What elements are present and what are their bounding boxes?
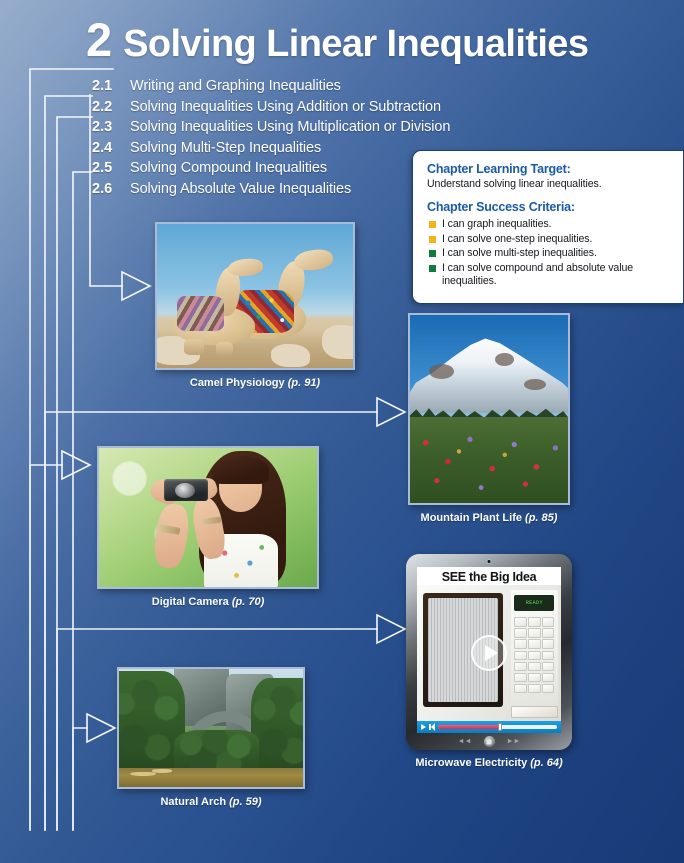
- arrowhead-arch: [87, 714, 115, 742]
- connector-camera: [30, 465, 62, 830]
- tablet-right-glyph-icon: ►►: [507, 738, 521, 745]
- page-title: 2 Solving Linear Inequalities: [86, 12, 588, 67]
- video-progress-knob[interactable]: [498, 723, 502, 731]
- section-number: 2.5: [92, 160, 130, 176]
- section-label: Solving Compound Inequalities: [130, 160, 327, 176]
- success-criteria-list: I can graph inequalities. I can solve on…: [427, 218, 669, 289]
- caption-page: (p. 91): [288, 377, 320, 389]
- section-number: 2.2: [92, 99, 130, 115]
- criterion-text: I can solve multi-step inequalities.: [442, 247, 669, 261]
- caption-page: (p. 70): [232, 596, 264, 608]
- learning-target-heading: Chapter Learning Target:: [427, 162, 669, 176]
- learning-target-text: Understand solving linear inequalities.: [427, 178, 669, 190]
- arrowhead-microwave: [377, 615, 405, 643]
- tablet-device[interactable]: SEE the Big Idea READY: [406, 554, 572, 750]
- photo-frame-camera: [97, 446, 319, 589]
- section-number: 2.4: [92, 140, 130, 156]
- video-play-icon[interactable]: [421, 724, 426, 730]
- caption-page: (p. 85): [525, 512, 557, 524]
- chapter-title: Solving Linear Inequalities: [123, 23, 588, 66]
- caption-title: Digital Camera: [152, 596, 229, 608]
- photo-caption-camera: Digital Camera (p. 70): [97, 596, 319, 608]
- chapter-learning-target-box: Chapter Learning Target: Understand solv…: [412, 150, 684, 304]
- camera-photo: [99, 448, 317, 587]
- criterion-text: I can solve compound and absolute value …: [442, 262, 669, 289]
- photo-card-arch[interactable]: Natural Arch (p. 59): [117, 667, 305, 808]
- chapter-number: 2: [86, 12, 111, 67]
- section-label: Solving Absolute Value Inequalities: [130, 181, 351, 197]
- photo-card-camera[interactable]: Digital Camera (p. 70): [97, 446, 319, 608]
- caption-title: Camel Physiology: [190, 377, 285, 389]
- photo-frame-arch: [117, 667, 305, 789]
- section-label: Writing and Graphing Inequalities: [130, 78, 341, 94]
- caption-page: (p. 59): [229, 796, 261, 808]
- caption-page: (p. 64): [530, 757, 562, 769]
- play-icon: [485, 645, 498, 661]
- section-item-2-3[interactable]: 2.3 Solving Inequalities Using Multiplic…: [92, 119, 492, 140]
- tablet-camera-icon: [488, 560, 491, 563]
- photo-caption-mountain: Mountain Plant Life (p. 85): [408, 512, 570, 524]
- criterion-item: I can graph inequalities.: [427, 218, 669, 232]
- microwave-display-text: READY: [526, 600, 543, 606]
- section-number: 2.1: [92, 78, 130, 94]
- section-item-2-2[interactable]: 2.2 Solving Inequalities Using Addition …: [92, 99, 492, 120]
- mountain-photo: [410, 315, 568, 503]
- criterion-bullet-icon: [429, 221, 436, 228]
- section-number: 2.3: [92, 119, 130, 135]
- video-player-controls[interactable]: [417, 721, 561, 733]
- connector-arch: [73, 728, 87, 830]
- criterion-bullet-icon: [429, 250, 436, 257]
- photo-frame-mountain: [408, 313, 570, 505]
- photo-card-microwave-video[interactable]: SEE the Big Idea READY: [406, 554, 572, 769]
- camel-photo: [157, 224, 353, 368]
- section-label: Solving Inequalities Using Multiplicatio…: [130, 119, 450, 135]
- section-number: 2.6: [92, 181, 130, 197]
- criterion-bullet-icon: [429, 236, 436, 243]
- photo-caption-microwave: Microwave Electricity (p. 64): [406, 757, 572, 769]
- photo-card-mountain[interactable]: Mountain Plant Life (p. 85): [408, 313, 570, 524]
- arch-photo: [119, 669, 303, 787]
- criterion-text: I can graph inequalities.: [442, 218, 669, 232]
- arrowhead-mountain: [377, 398, 405, 426]
- caption-title: Mountain Plant Life: [421, 512, 522, 524]
- criterion-item: I can solve multi-step inequalities.: [427, 247, 669, 261]
- chapter-opener-page: 2 Solving Linear Inequalities 2.1 Writin…: [0, 0, 684, 863]
- volume-icon[interactable]: [429, 724, 435, 730]
- tablet-hardware-buttons: ◄◄ ►►: [406, 735, 572, 748]
- connector-2-2: [45, 96, 92, 830]
- caption-title: Microwave Electricity: [415, 757, 527, 769]
- photo-frame-camel: [155, 222, 355, 370]
- video-progress-fill: [438, 725, 500, 729]
- criterion-item: I can solve one-step inequalities.: [427, 233, 669, 247]
- photo-caption-arch: Natural Arch (p. 59): [117, 796, 305, 808]
- section-item-2-1[interactable]: 2.1 Writing and Graphing Inequalities: [92, 78, 492, 99]
- arrowhead-camera: [62, 451, 90, 479]
- microwave-control-panel: READY: [511, 590, 559, 712]
- microwave-keypad: [514, 617, 554, 693]
- criterion-bullet-icon: [429, 265, 436, 272]
- section-label: Solving Inequalities Using Addition or S…: [130, 99, 441, 115]
- tablet-screen[interactable]: SEE the Big Idea READY: [417, 567, 561, 733]
- tablet-left-glyph-icon: ◄◄: [458, 738, 472, 745]
- criterion-text: I can solve one-step inequalities.: [442, 233, 669, 247]
- tablet-home-button[interactable]: [484, 736, 495, 747]
- see-the-big-idea-heading: SEE the Big Idea: [417, 570, 561, 584]
- arrowhead-camel: [122, 272, 150, 300]
- caption-title: Natural Arch: [160, 796, 226, 808]
- photo-card-camel[interactable]: Camel Physiology (p. 91): [155, 222, 355, 389]
- connector-2-3: [57, 117, 92, 830]
- success-criteria-heading: Chapter Success Criteria:: [427, 200, 669, 214]
- connector-2-5: [73, 172, 92, 830]
- play-button[interactable]: [471, 635, 507, 671]
- video-progress-track[interactable]: [438, 725, 557, 729]
- section-label: Solving Multi-Step Inequalities: [130, 140, 321, 156]
- photo-caption-camel: Camel Physiology (p. 91): [155, 377, 355, 389]
- criterion-item: I can solve compound and absolute value …: [427, 262, 669, 289]
- microwave-display: READY: [514, 595, 554, 611]
